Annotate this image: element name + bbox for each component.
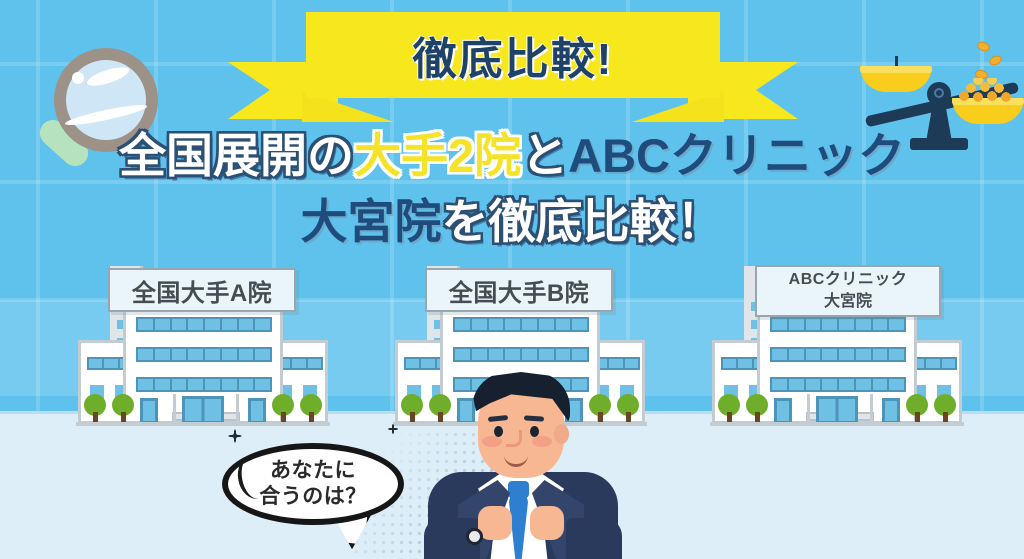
scale-pan-left [860,66,932,92]
clinic-plate-a-label: 全国大手A院 [132,273,272,308]
sparkle-icon [384,420,402,438]
character-necktie-knot [508,481,529,498]
falling-coin-1 [976,40,991,53]
headline: 全国展開の大手2院とABCクリニック 大宮院を徹底比較！ [0,132,1024,254]
hospital-a-side-window-right [248,398,266,424]
falling-coin-2 [988,54,1004,68]
gold-coins-icon [954,78,1022,102]
headline-segment-5: 大宮院 [301,198,442,245]
main-window-strip [770,377,906,392]
headline-segment-2: 大手2院 [354,132,521,179]
tree [300,394,322,424]
speech-bubble-line-2: 合うのは？ [259,484,367,510]
clinic-plate-a: 全国大手A院 [108,268,296,312]
character-sleeve-right [566,518,622,559]
magnifier-glare-b [72,72,84,84]
tree [112,394,134,424]
hospital-c-base [710,422,964,426]
hospital-c-side-window-left [774,398,792,424]
clinic-plate-c-sublabel: 大宮院 [824,291,872,313]
main-window-strip [770,317,906,332]
hospital-a-base [76,422,330,426]
character-nose [506,430,522,447]
ribbon-banner: 徹底比較! [228,12,798,124]
tree [746,394,768,424]
speech-bubble-line-1: あなたに [270,458,356,484]
headline-segment-4: ABCクリニック [568,132,905,179]
sparkle-icon [224,425,246,447]
clinic-plate-b-label: 全国大手B院 [449,273,589,308]
headline-segment-3: と [521,132,568,179]
headline-segment-4-text: ABCクリニック [568,129,905,182]
main-window-strip [453,317,589,332]
character-hand-left [478,506,512,540]
hospital-c-side-window-right [882,398,900,424]
headline-segment-5-text: 大宮院 [301,195,442,248]
tree [84,394,106,424]
clinic-plate-c-label: ABCクリニック [789,269,908,291]
main-window-strip [770,347,906,362]
clinic-plate-c: ABCクリニック 大宮院 [755,265,941,317]
headline-segment-1: 全国展開の [119,132,354,179]
character-wristwatch [466,528,483,545]
tree [272,394,294,424]
character-blush-left [482,436,502,447]
businessman-character [420,368,625,559]
character-hand-right [530,506,564,540]
hospital-a-side-window-left [140,398,158,424]
character-ear [554,424,569,444]
banner-canvas: 徹底比較! 全国展開の大手2院とABCクリニック 大宮院を徹底比較！ [0,0,1024,559]
main-window-strip [136,317,272,332]
headline-line-1: 全国展開の大手2院とABCクリニック [0,132,1024,194]
headline-segment-2-text: 大手2院 [354,129,521,182]
hospital-c-entrance-door [816,396,858,424]
tree [906,394,928,424]
clinic-plate-b: 全国大手B院 [425,268,613,312]
ribbon-title: 徹底比較! [413,23,614,87]
tree [934,394,956,424]
main-window-strip [136,347,272,362]
main-window-strip [136,377,272,392]
headline-segment-6: を徹底比較！ [442,198,724,245]
main-window-strip [453,347,589,362]
headline-line-2: 大宮院を徹底比較！ [0,198,1024,254]
hospital-a-entrance-door [182,396,224,424]
character-blush-right [532,436,552,447]
ribbon-main-panel: 徹底比較! [306,12,720,98]
tree [718,394,740,424]
